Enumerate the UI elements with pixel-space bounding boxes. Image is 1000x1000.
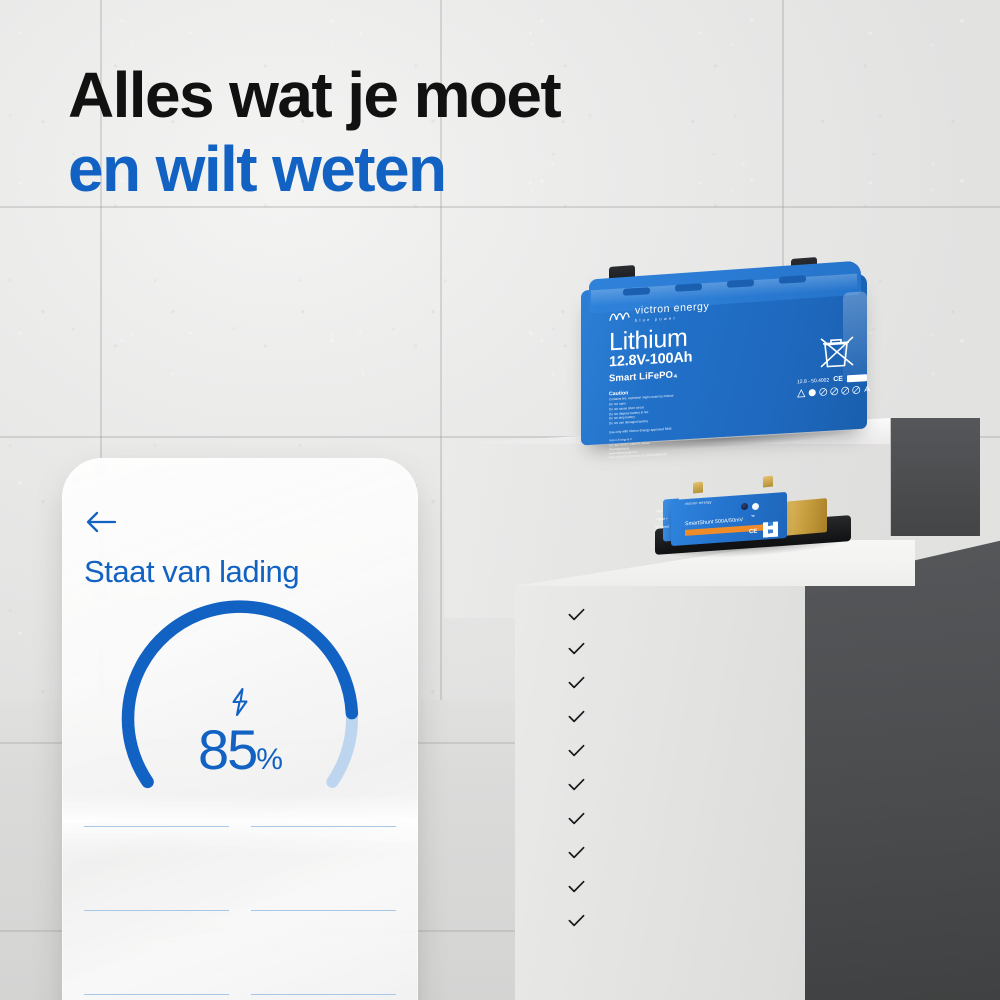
battery-ce-mark: CE (833, 376, 843, 384)
lightning-bolt-icon (227, 687, 253, 717)
pedestal-upper-side (890, 418, 980, 536)
stat-row (84, 826, 396, 910)
checklist-item (568, 802, 594, 836)
check-icon (568, 880, 585, 894)
check-icon (568, 778, 585, 792)
check-icon-wrap (568, 744, 594, 758)
back-button[interactable] (84, 506, 124, 538)
read-manual-icon (808, 388, 817, 397)
checklist-item (568, 768, 594, 802)
check-icon (568, 710, 585, 724)
stat-voltage (84, 826, 229, 910)
arrow-left-icon (84, 510, 118, 534)
headline-line-2: en wilt weten (68, 132, 560, 206)
no-water-icon (852, 386, 861, 395)
battery-label: victron energy blue power Lithium 12.8V-… (609, 297, 789, 461)
checklist-item (568, 734, 594, 768)
pedestal-lower-side (803, 540, 1000, 1000)
check-icon-wrap (568, 676, 594, 690)
pedestal-lower-front (515, 584, 805, 1000)
check-icon-wrap (568, 710, 594, 724)
checklist-item (568, 666, 594, 700)
qr-code-icon (763, 521, 778, 537)
recycle-icon (863, 385, 872, 394)
victron-wave-mark (609, 308, 630, 322)
checklist-item (568, 904, 594, 938)
check-icon (568, 642, 585, 656)
stat-current (84, 910, 229, 994)
product-smartshunt: victron energy +Aux+Vbatt +VE.Direct ⌁ S… (655, 478, 855, 560)
checklist-item (568, 836, 594, 870)
check-icon-wrap (568, 880, 594, 894)
stat-row-divider (84, 994, 396, 1000)
check-icon-wrap (568, 846, 594, 860)
shunt-ce-mark: CE (749, 529, 757, 536)
feature-checklist (568, 598, 594, 938)
shunt-port-label: VE.Direct (655, 523, 669, 532)
gauge-percent-sign: % (256, 743, 282, 776)
shunt-brass-bolt (693, 481, 703, 493)
check-icon-wrap (568, 914, 594, 928)
battery-cert-row: 12.8 - 50.4002 CE (797, 374, 875, 386)
no-shortcircuit-icon (841, 386, 850, 395)
state-of-charge-gauge: 85% (100, 618, 380, 796)
battery-symbols: 12.8 - 50.4002 CE (797, 330, 875, 398)
check-icon (568, 812, 585, 826)
check-icon-wrap (568, 608, 594, 622)
no-fire-icon (819, 388, 828, 397)
page-title: Alles wat je moet en wilt weten (68, 58, 560, 206)
checklist-item (568, 632, 594, 666)
check-icon-wrap (568, 778, 594, 792)
product-battery: victron energy blue power Lithium 12.8V-… (575, 262, 875, 444)
crossed-out-bin-icon (813, 331, 859, 374)
app-preview-card: Staat van lading 85% (62, 458, 418, 1000)
card-title: Staat van lading (84, 556, 299, 587)
no-disassemble-icon (830, 387, 839, 396)
stat-divider (251, 994, 396, 1000)
battery-rating: 12.8 - 50.4002 (797, 377, 829, 385)
stat-row (84, 910, 396, 994)
checklist-item (568, 700, 594, 734)
check-icon (568, 914, 585, 928)
check-icon-wrap (568, 812, 594, 826)
check-icon (568, 676, 585, 690)
checklist-item (568, 870, 594, 904)
shunt-busbar (783, 498, 827, 536)
gauge-value: 85% (100, 722, 380, 778)
checklist-item (568, 598, 594, 632)
check-icon (568, 846, 585, 860)
headline-line-1: Alles wat je moet (68, 58, 560, 132)
battery-serial-box (847, 374, 867, 382)
warning-triangle-icon (797, 389, 806, 398)
gauge-percent-number: 85 (198, 718, 256, 781)
battery-stats-grid (84, 826, 396, 1000)
stat-consumed (251, 910, 396, 994)
shunt-port-labels: +Aux+Vbatt +VE.Direct (655, 507, 669, 531)
stat-divider (84, 994, 229, 1000)
shunt-brass-bolt (763, 475, 773, 487)
check-icon (568, 744, 585, 758)
check-icon (568, 608, 585, 622)
stat-amp-hours (251, 826, 396, 910)
check-icon-wrap (568, 642, 594, 656)
